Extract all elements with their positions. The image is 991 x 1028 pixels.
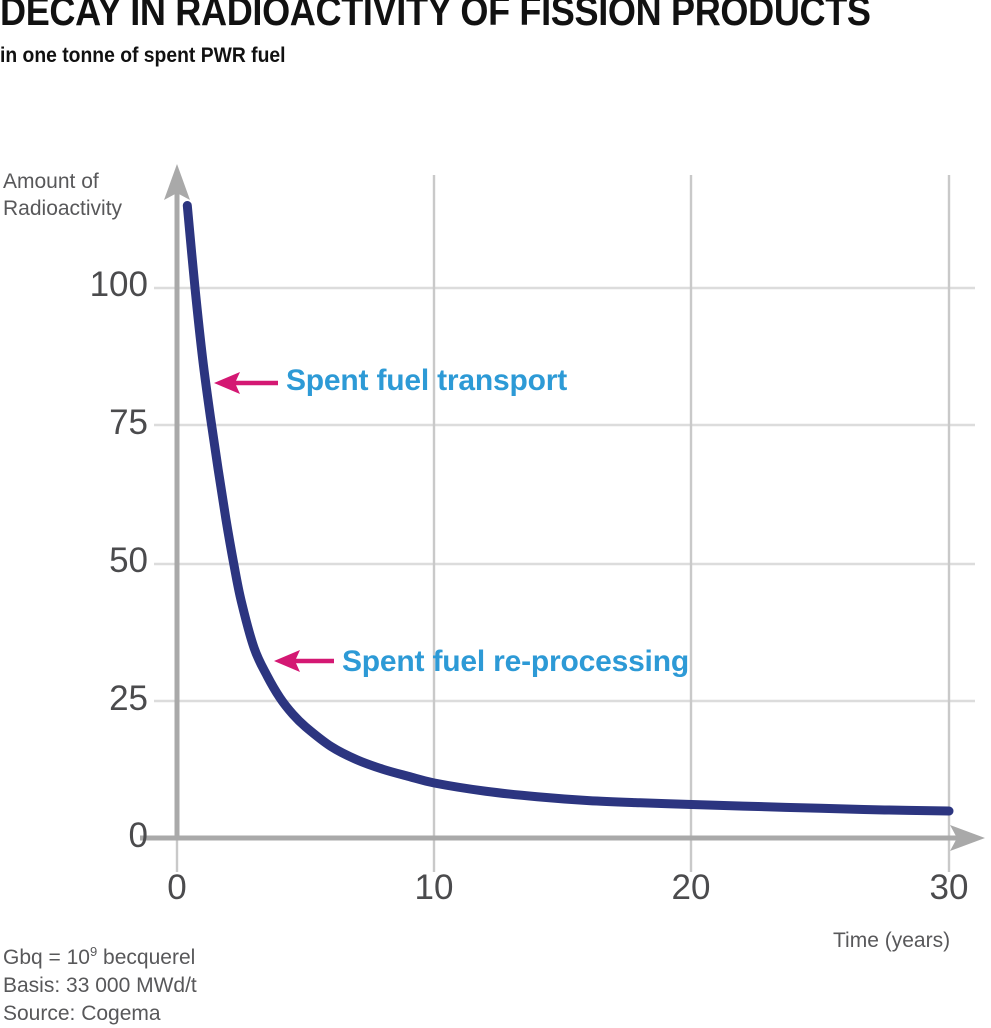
x-tick-label-0: 0: [132, 868, 222, 908]
footer-line-gbq: Gbq = 109 becquerel: [3, 938, 197, 972]
x-tick-label-10: 10: [389, 868, 479, 908]
x-axis: [140, 825, 985, 851]
y-axis-title-line1: Amount of: [3, 168, 153, 195]
y-axis-title: Amount of Radioactivity: [3, 168, 153, 222]
x-gridlines: [177, 175, 949, 872]
footer-notes: Gbq = 109 becquerel Basis: 33 000 MWd/t …: [3, 938, 197, 1028]
annotation-arrow-reprocessing: [274, 650, 334, 672]
annotation-arrow-transport: [214, 372, 278, 394]
decay-curve: [187, 206, 949, 812]
y-tick-label-100: 100: [28, 265, 148, 305]
y-tick-label-75: 75: [28, 403, 148, 443]
footer-line-basis: Basis: 33 000 MWd/t: [3, 972, 197, 1000]
y-tick-label-50: 50: [28, 541, 148, 581]
y-gridlines: [154, 288, 975, 701]
x-tick-label-20: 20: [646, 868, 736, 908]
x-axis-title: Time (years): [833, 927, 950, 954]
annotation-label-spent-fuel-reprocessing: Spent fuel re-processing: [342, 645, 689, 679]
annotation-label-spent-fuel-transport: Spent fuel transport: [286, 364, 567, 398]
y-tick-label-0: 0: [28, 816, 148, 856]
footer-gbq-suffix: becquerel: [97, 946, 195, 969]
x-tick-label-30: 30: [904, 868, 991, 908]
y-axis: [164, 164, 190, 838]
y-axis-title-line2: Radioactivity: [3, 195, 153, 222]
footer-gbq-prefix: Gbq = 10: [3, 946, 90, 969]
y-tick-label-25: 25: [28, 679, 148, 719]
